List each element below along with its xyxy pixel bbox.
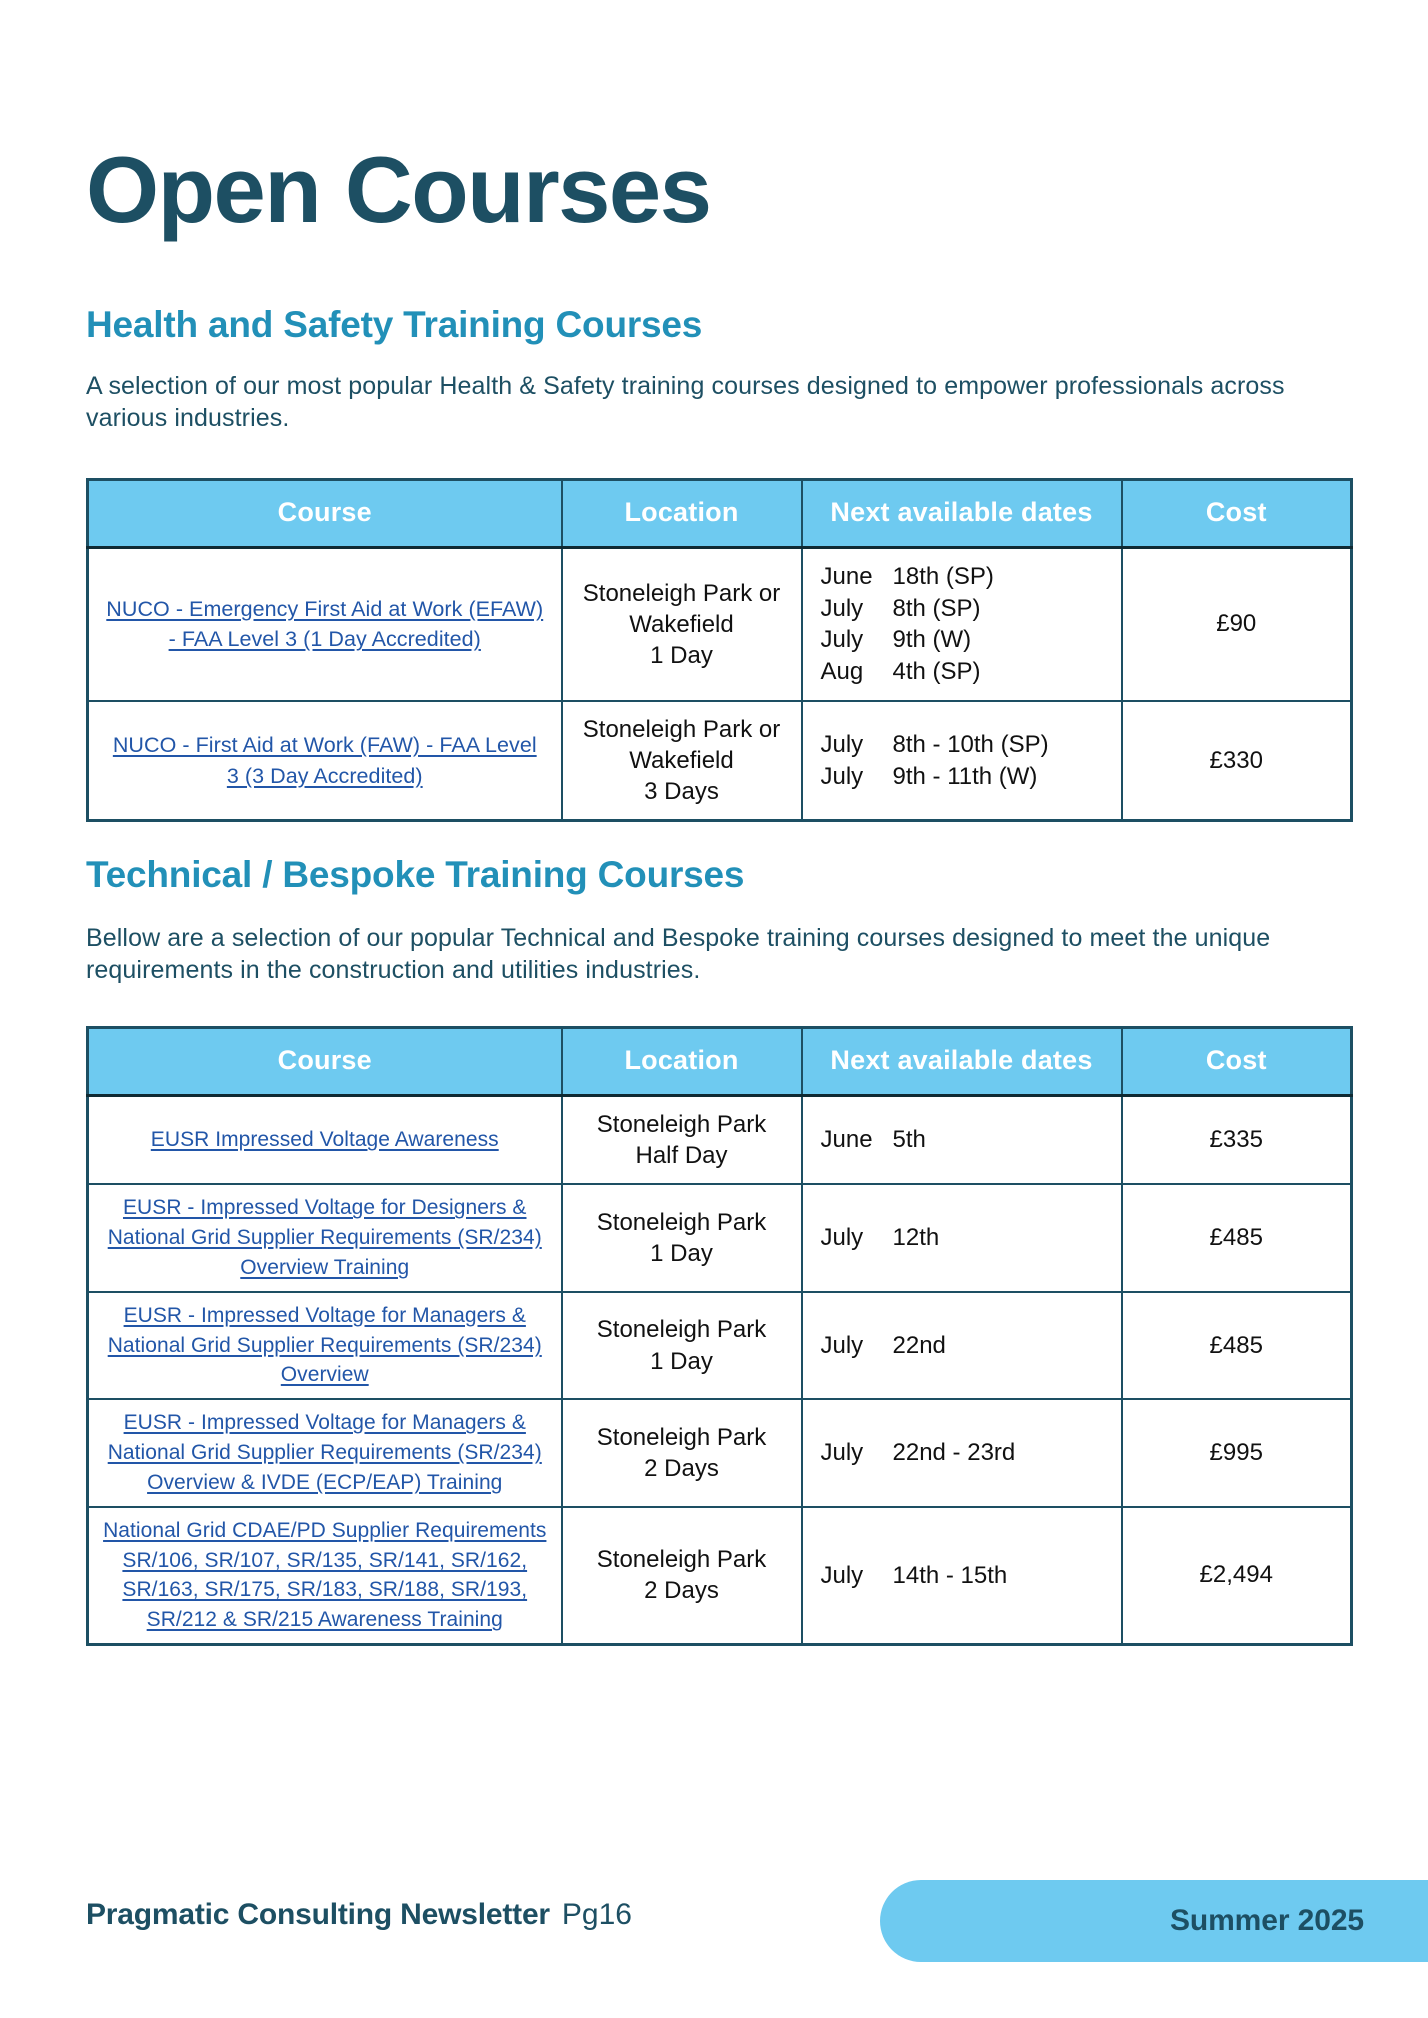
section-intro-technical-bespoke: Bellow are a selection of our popular Te… (86, 922, 1350, 986)
footer-season-pill: Summer 2025 (880, 1880, 1428, 1962)
cost-cell: £90 (1122, 548, 1352, 701)
date-month: July (821, 1330, 893, 1362)
footer-brand: Pragmatic Consulting Newsletter (86, 1898, 550, 1931)
cost-cell: £485 (1122, 1292, 1352, 1399)
dates-cell: June18th (SP)July8th (SP)July9th (W)Aug4… (802, 548, 1122, 701)
course-cell: EUSR - Impressed Voltage for Managers & … (88, 1292, 562, 1399)
cost-cell: £995 (1122, 1399, 1352, 1506)
date-day: 12th (893, 1222, 940, 1254)
table-header-row: Course Location Next available dates Cos… (88, 1028, 1352, 1096)
technical-bespoke-courses-table: Course Location Next available dates Cos… (86, 1026, 1353, 1646)
course-cell: EUSR Impressed Voltage Awareness (88, 1096, 562, 1185)
column-header-next-available-dates: Next available dates (802, 1028, 1122, 1096)
location-line: 3 Days (569, 776, 795, 807)
section-technical-bespoke: Technical / Bespoke Training Courses Bel… (86, 855, 1350, 986)
section-heading-health-and-safety: Health and Safety Training Courses (86, 305, 1350, 346)
location-line: Stoneleigh Park or Wakefield (569, 578, 795, 640)
date-day: 22nd (893, 1330, 946, 1362)
location-line: Half Day (569, 1140, 795, 1171)
column-header-location: Location (562, 480, 802, 548)
date-entry: July9th (W) (821, 624, 1121, 656)
course-cell: NUCO - Emergency First Aid at Work (EFAW… (88, 548, 562, 701)
table-row: EUSR - Impressed Voltage for Managers & … (88, 1292, 1352, 1399)
location-line: Stoneleigh Park (569, 1207, 795, 1238)
table-header-row: Course Location Next available dates Cos… (88, 480, 1352, 548)
date-entry: July12th (821, 1222, 1121, 1254)
location-line: 1 Day (569, 1238, 795, 1269)
footer-page-number: Pg16 (562, 1898, 632, 1931)
location-cell: Stoneleigh Park or Wakefield1 Day (562, 548, 802, 701)
location-line: Stoneleigh Park (569, 1422, 795, 1453)
dates-cell: July14th - 15th (802, 1507, 1122, 1645)
table-row: National Grid CDAE/PD Supplier Requireme… (88, 1507, 1352, 1645)
column-header-location: Location (562, 1028, 802, 1096)
course-cell: EUSR - Impressed Voltage for Managers & … (88, 1399, 562, 1506)
date-day: 18th (SP) (893, 561, 994, 593)
column-header-cost: Cost (1122, 1028, 1352, 1096)
course-cell: National Grid CDAE/PD Supplier Requireme… (88, 1507, 562, 1645)
technical-bespoke-table-body: EUSR Impressed Voltage AwarenessStonelei… (88, 1096, 1352, 1645)
location-cell: Stoneleigh Park2 Days (562, 1399, 802, 1506)
date-day: 14th - 15th (893, 1560, 1008, 1592)
location-cell: Stoneleigh Park or Wakefield3 Days (562, 701, 802, 821)
location-cell: Stoneleigh Park2 Days (562, 1507, 802, 1645)
location-line: 2 Days (569, 1575, 795, 1606)
date-entry: July9th - 11th (W) (821, 761, 1121, 793)
column-header-course: Course (88, 480, 562, 548)
cost-cell: £485 (1122, 1184, 1352, 1291)
table-row: EUSR - Impressed Voltage for Designers &… (88, 1184, 1352, 1291)
dates-cell: July22nd (802, 1292, 1122, 1399)
column-header-next-available-dates: Next available dates (802, 480, 1122, 548)
date-entry: July22nd - 23rd (821, 1437, 1121, 1469)
column-header-cost: Cost (1122, 480, 1352, 548)
location-cell: Stoneleigh ParkHalf Day (562, 1096, 802, 1185)
date-day: 8th (SP) (893, 593, 981, 625)
course-link[interactable]: EUSR - Impressed Voltage for Managers & … (108, 1411, 542, 1494)
location-cell: Stoneleigh Park1 Day (562, 1184, 802, 1291)
date-day: 8th - 10th (SP) (893, 729, 1049, 761)
date-day: 22nd - 23rd (893, 1437, 1016, 1469)
location-cell: Stoneleigh Park1 Day (562, 1292, 802, 1399)
cost-cell: £2,494 (1122, 1507, 1352, 1645)
location-line: Stoneleigh Park (569, 1109, 795, 1140)
table-row: EUSR - Impressed Voltage for Managers & … (88, 1399, 1352, 1506)
date-entry: June5th (821, 1124, 1121, 1156)
date-day: 9th - 11th (W) (893, 761, 1038, 793)
dates-cell: July22nd - 23rd (802, 1399, 1122, 1506)
date-month: July (821, 624, 893, 656)
date-month: July (821, 1222, 893, 1254)
dates-cell: June5th (802, 1096, 1122, 1185)
location-line: Stoneleigh Park or Wakefield (569, 714, 795, 776)
section-heading-technical-bespoke: Technical / Bespoke Training Courses (86, 855, 1350, 896)
course-link[interactable]: EUSR Impressed Voltage Awareness (151, 1128, 499, 1151)
table-row: NUCO - Emergency First Aid at Work (EFAW… (88, 548, 1352, 701)
health-and-safety-courses-table: Course Location Next available dates Cos… (86, 478, 1353, 822)
page-footer: Pragmatic Consulting NewsletterPg16 Summ… (0, 1880, 1428, 1980)
location-line: 2 Days (569, 1453, 795, 1484)
section-health-and-safety: Health and Safety Training Courses A sel… (86, 305, 1350, 434)
date-day: 4th (SP) (893, 656, 981, 688)
health-and-safety-table-body: NUCO - Emergency First Aid at Work (EFAW… (88, 548, 1352, 821)
date-entry: Aug4th (SP) (821, 656, 1121, 688)
date-day: 5th (893, 1124, 926, 1156)
date-month: July (821, 729, 893, 761)
course-link[interactable]: NUCO - Emergency First Aid at Work (EFAW… (106, 597, 543, 652)
table-row: EUSR Impressed Voltage AwarenessStonelei… (88, 1096, 1352, 1185)
date-month: July (821, 761, 893, 793)
location-line: Stoneleigh Park (569, 1314, 795, 1345)
course-cell: EUSR - Impressed Voltage for Designers &… (88, 1184, 562, 1291)
location-line: Stoneleigh Park (569, 1544, 795, 1575)
date-month: Aug (821, 656, 893, 688)
course-link[interactable]: EUSR - Impressed Voltage for Designers &… (108, 1196, 542, 1279)
date-entry: June18th (SP) (821, 561, 1121, 593)
page-title: Open Courses (86, 141, 711, 240)
section-intro-health-and-safety: A selection of our most popular Health &… (86, 370, 1350, 434)
technical-bespoke-table-wrapper: Course Location Next available dates Cos… (86, 1026, 1353, 1646)
course-link[interactable]: NUCO - First Aid at Work (FAW) - FAA Lev… (113, 733, 537, 788)
date-month: June (821, 1124, 893, 1156)
health-and-safety-table-wrapper: Course Location Next available dates Cos… (86, 478, 1353, 822)
location-line: 1 Day (569, 640, 795, 671)
date-entry: July14th - 15th (821, 1560, 1121, 1592)
footer-left-group: Pragmatic Consulting NewsletterPg16 (86, 1898, 632, 1932)
column-header-course: Course (88, 1028, 562, 1096)
date-day: 9th (W) (893, 624, 972, 656)
table-row: NUCO - First Aid at Work (FAW) - FAA Lev… (88, 701, 1352, 821)
cost-cell: £335 (1122, 1096, 1352, 1185)
course-link[interactable]: National Grid CDAE/PD Supplier Requireme… (103, 1519, 546, 1631)
cost-cell: £330 (1122, 701, 1352, 821)
footer-season-label: Summer 2025 (1170, 1904, 1364, 1938)
date-entry: July8th (SP) (821, 593, 1121, 625)
date-month: July (821, 1437, 893, 1469)
date-entry: July8th - 10th (SP) (821, 729, 1121, 761)
course-link[interactable]: EUSR - Impressed Voltage for Managers & … (108, 1304, 542, 1387)
dates-cell: July12th (802, 1184, 1122, 1291)
date-month: June (821, 561, 893, 593)
course-cell: NUCO - First Aid at Work (FAW) - FAA Lev… (88, 701, 562, 821)
date-month: July (821, 1560, 893, 1592)
location-line: 1 Day (569, 1346, 795, 1377)
newsletter-page: Open Courses Health and Safety Training … (0, 0, 1428, 2018)
date-entry: July22nd (821, 1330, 1121, 1362)
date-month: July (821, 593, 893, 625)
dates-cell: July8th - 10th (SP)July9th - 11th (W) (802, 701, 1122, 821)
